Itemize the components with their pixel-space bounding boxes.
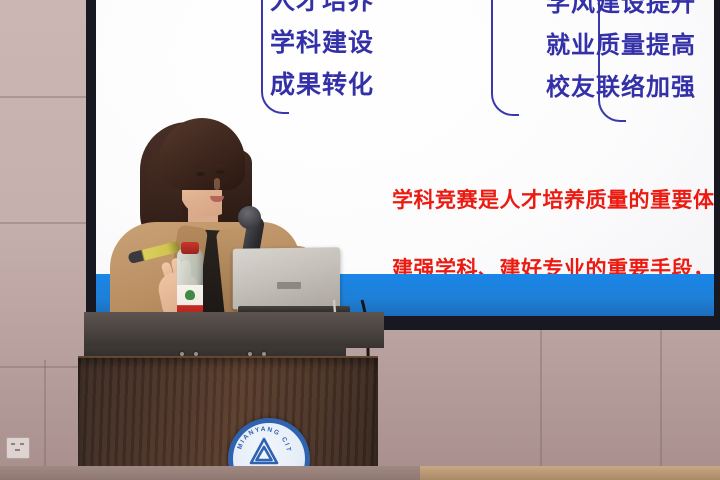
slide-left-line-2: 学科建设 [237, 22, 407, 64]
ceiling-beam [84, 312, 384, 348]
tree-logo-icon [185, 290, 195, 300]
speaker-eye-right [216, 170, 225, 174]
slide-red-line-1: 学科竞赛是人才培养质量的重要体现，是培 [392, 184, 714, 214]
slide-left-line-3: 成果转化 [237, 64, 407, 106]
wall-seam [0, 222, 96, 224]
wall-seam [660, 330, 662, 480]
speaker-nose [214, 178, 220, 190]
speaker-eyebrow-left [194, 166, 206, 169]
wall-seam [0, 96, 96, 98]
slide-column-right: 学风建设提升 就业质量提高 校友联络加强 [516, 0, 714, 108]
water-bottle-cap[interactable] [181, 242, 199, 254]
slide-right-line-2: 就业质量提高 [516, 24, 714, 66]
slide-right-line-1: 学风建设提升 [516, 0, 714, 24]
laptop[interactable] [233, 247, 340, 311]
speaker-eye-left [196, 172, 205, 176]
slide-right-line-3: 校友联络加强 [516, 66, 714, 108]
wall-seam [540, 330, 542, 480]
wall-power-outlet[interactable] [6, 437, 30, 459]
photo-scene: 人才培养 学科建设 成果转化 学风建设提升 就业质量提高 校友联络加强 学科竞赛… [0, 0, 720, 480]
slide-left-line-1: 人才培养 [237, 0, 407, 22]
slide-column-left: 人才培养 学科建设 成果转化 [237, 0, 407, 106]
speaker-eyebrow-right [214, 164, 226, 167]
brace-middle-icon [491, 0, 519, 116]
floor-strip-lit [420, 466, 720, 480]
wall-seam [44, 360, 46, 480]
laptop-brand-logo-icon [277, 282, 301, 289]
